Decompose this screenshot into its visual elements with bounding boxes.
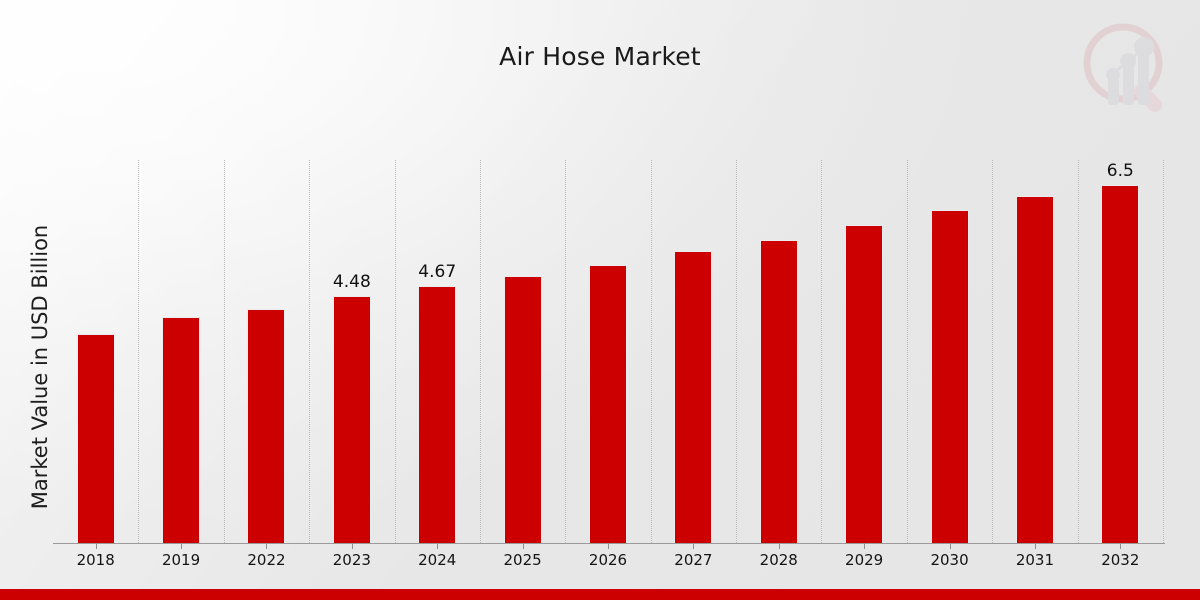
gridline — [480, 160, 481, 543]
x-tick-mark — [1035, 543, 1036, 549]
x-tick-mark — [352, 543, 353, 549]
bar-rect[interactable] — [1101, 185, 1139, 543]
bar-2018[interactable] — [77, 160, 115, 543]
bar-rect[interactable] — [760, 240, 798, 543]
bar-rect[interactable] — [674, 251, 712, 543]
gridline — [138, 160, 139, 543]
gridline — [309, 160, 310, 543]
chart-figure: Air Hose Market Market Value in USD Bill… — [0, 0, 1200, 600]
gridline — [736, 160, 737, 543]
bar-rect[interactable] — [931, 210, 969, 543]
y-axis-label: Market Value in USD Billion — [28, 167, 52, 567]
x-tick-label-2031: 2031 — [1016, 551, 1054, 569]
x-tick-label-2029: 2029 — [845, 551, 883, 569]
x-tick-label-2032: 2032 — [1101, 551, 1139, 569]
bar-2029[interactable] — [845, 160, 883, 543]
bar-value-label: 6.5 — [1107, 161, 1134, 181]
x-tick-label-2028: 2028 — [760, 551, 798, 569]
page-title: Air Hose Market — [0, 42, 1200, 71]
bar-2032[interactable]: 6.5 — [1101, 160, 1139, 543]
bar-rect[interactable] — [162, 317, 200, 543]
bar-rect[interactable] — [589, 265, 627, 543]
bar-value-label: 4.67 — [418, 262, 456, 282]
magnifier-bar-chart-logo — [1078, 18, 1182, 122]
x-tick-mark — [96, 543, 97, 549]
x-tick-mark — [437, 543, 438, 549]
x-tick-label-2022: 2022 — [247, 551, 285, 569]
bar-2025[interactable] — [504, 160, 542, 543]
gridline — [907, 160, 908, 543]
bar-rect[interactable] — [247, 309, 285, 543]
bar-2024[interactable]: 4.67 — [418, 160, 456, 543]
x-tick-mark — [1120, 543, 1121, 549]
bar-2030[interactable] — [931, 160, 969, 543]
gridline — [224, 160, 225, 543]
bar-2031[interactable] — [1016, 160, 1054, 543]
bar-rect[interactable] — [1016, 196, 1054, 543]
bar-value-label: 4.48 — [333, 272, 371, 292]
bar-2023[interactable]: 4.48 — [333, 160, 371, 543]
x-tick-label-2026: 2026 — [589, 551, 627, 569]
x-tick-mark — [950, 543, 951, 549]
x-tick-label-2030: 2030 — [930, 551, 968, 569]
bar-2026[interactable] — [589, 160, 627, 543]
x-tick-label-2024: 2024 — [418, 551, 456, 569]
x-tick-label-2019: 2019 — [162, 551, 200, 569]
x-tick-mark — [693, 543, 694, 549]
plot-area: 4.484.676.5 — [53, 160, 1163, 543]
gridline — [821, 160, 822, 543]
bar-rect[interactable] — [504, 276, 542, 543]
x-tick-label-2027: 2027 — [674, 551, 712, 569]
x-tick-label-2025: 2025 — [504, 551, 542, 569]
x-tick-mark — [779, 543, 780, 549]
gridline — [1078, 160, 1079, 543]
x-tick-mark — [523, 543, 524, 549]
gridline — [395, 160, 396, 543]
gridline — [651, 160, 652, 543]
gridline — [565, 160, 566, 543]
x-tick-mark — [864, 543, 865, 549]
bar-2019[interactable] — [162, 160, 200, 543]
bar-2022[interactable] — [247, 160, 285, 543]
footer-accent-bar — [0, 589, 1200, 600]
x-tick-label-2018: 2018 — [77, 551, 115, 569]
bar-rect[interactable] — [418, 286, 456, 543]
x-axis-line — [53, 543, 1165, 544]
gridline — [1163, 160, 1164, 543]
bar-rect[interactable] — [845, 225, 883, 543]
bar-2027[interactable] — [674, 160, 712, 543]
x-tick-mark — [181, 543, 182, 549]
bar-2028[interactable] — [760, 160, 798, 543]
bar-rect[interactable] — [77, 334, 115, 543]
bar-rect[interactable] — [333, 296, 371, 543]
gridline — [992, 160, 993, 543]
x-tick-mark — [608, 543, 609, 549]
x-tick-mark — [266, 543, 267, 549]
x-tick-label-2023: 2023 — [333, 551, 371, 569]
